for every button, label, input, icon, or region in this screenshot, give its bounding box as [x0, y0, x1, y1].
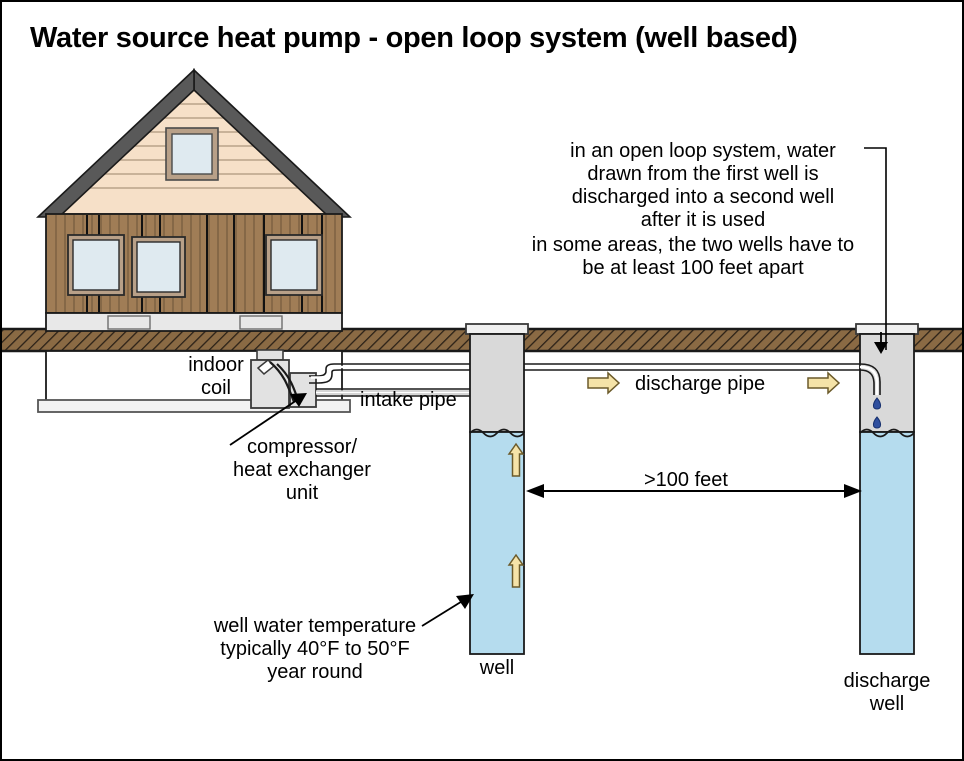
label-distance: >100 feet	[644, 469, 728, 492]
well-cap	[466, 324, 528, 334]
basement-window-left	[108, 316, 150, 329]
note1-leader	[864, 148, 886, 350]
note-well-spacing: in some areas, the two wells have to be …	[522, 234, 864, 280]
label-indoor-coil: indoor coil	[170, 354, 262, 400]
discharge-flow-arrow-right	[808, 373, 839, 393]
diagram-frame: Water source heat pump - open loop syste…	[0, 0, 964, 761]
discharge-well-water	[860, 432, 914, 654]
well-intake	[466, 324, 528, 654]
label-discharge-well: discharge well	[830, 670, 944, 716]
window-middle	[132, 237, 185, 297]
discharge-well-cap	[856, 324, 918, 334]
diagram-canvas	[2, 2, 962, 759]
well-casing-dry	[470, 334, 524, 432]
note-open-loop: in an open loop system, water drawn from…	[542, 140, 864, 232]
discharge-flow-arrow-left	[588, 373, 619, 393]
discharge-pipe	[309, 364, 860, 383]
label-discharge-pipe: discharge pipe	[635, 373, 765, 396]
discharge-casing-dry	[860, 334, 914, 432]
window-right	[266, 235, 322, 295]
label-well: well	[457, 657, 537, 680]
label-well-temperature: well water temperature typically 40°F to…	[200, 615, 430, 684]
window-left	[68, 235, 124, 295]
attic-window	[166, 128, 218, 180]
label-intake-pipe: intake pipe	[360, 389, 457, 412]
well-discharge	[856, 324, 918, 654]
label-compressor-unit: compressor/ heat exchanger unit	[202, 436, 402, 505]
basement-window-right	[240, 316, 282, 329]
foundation-band	[46, 313, 342, 331]
